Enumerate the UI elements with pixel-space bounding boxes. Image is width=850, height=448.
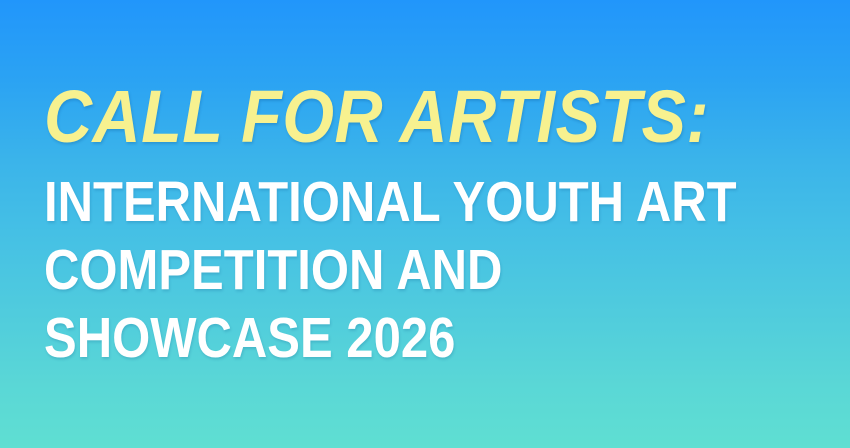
subtitle-line-2: COMPETITION AND [44,236,723,304]
subtitle-line-1: INTERNATIONAL YOUTH ART [44,168,723,236]
subtitle-line-3: SHOWCASE 2026 [44,304,723,372]
call-for-artists-banner: CALL FOR ARTISTS: INTERNATIONAL YOUTH AR… [0,0,850,448]
page-title: CALL FOR ARTISTS: [44,80,755,154]
banner-text-block: CALL FOR ARTISTS: INTERNATIONAL YOUTH AR… [44,80,834,372]
